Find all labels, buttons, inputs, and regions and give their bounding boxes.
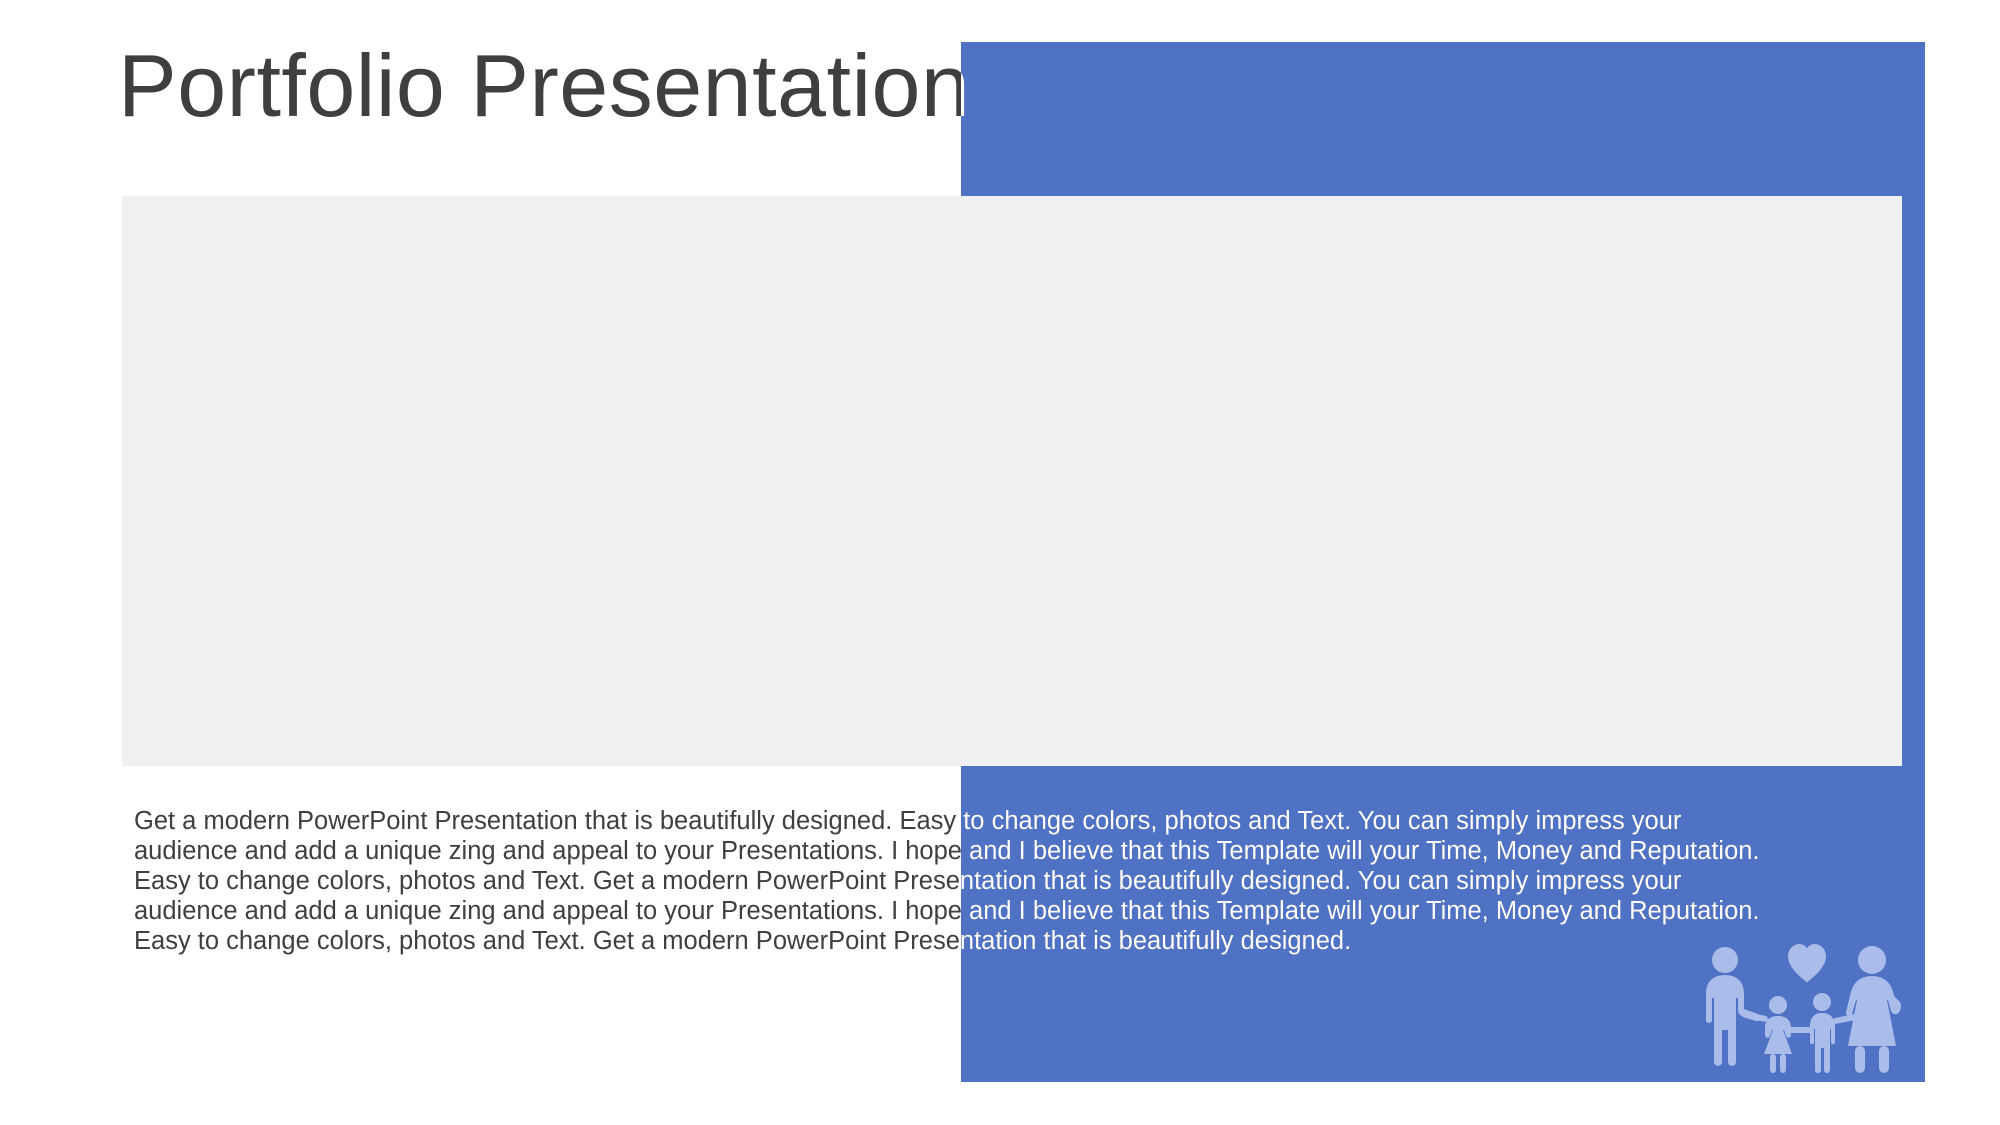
hand-link-middle [1789,1027,1813,1033]
image-placeholder[interactable] [122,196,1902,766]
heart-icon [1788,944,1826,983]
father-figure-icon [1706,947,1760,1066]
mother-figure-icon [1846,946,1901,1073]
page-title-text: Portfolio Presentation [118,32,970,140]
page-title-text-light: Portfolio Presentation [118,32,970,140]
slide-canvas: Portfolio Presentation Portfolio Present… [0,0,2000,1125]
boy-figure-icon [1810,993,1835,1073]
girl-figure-icon [1764,996,1792,1073]
family-icon [1700,938,1910,1078]
